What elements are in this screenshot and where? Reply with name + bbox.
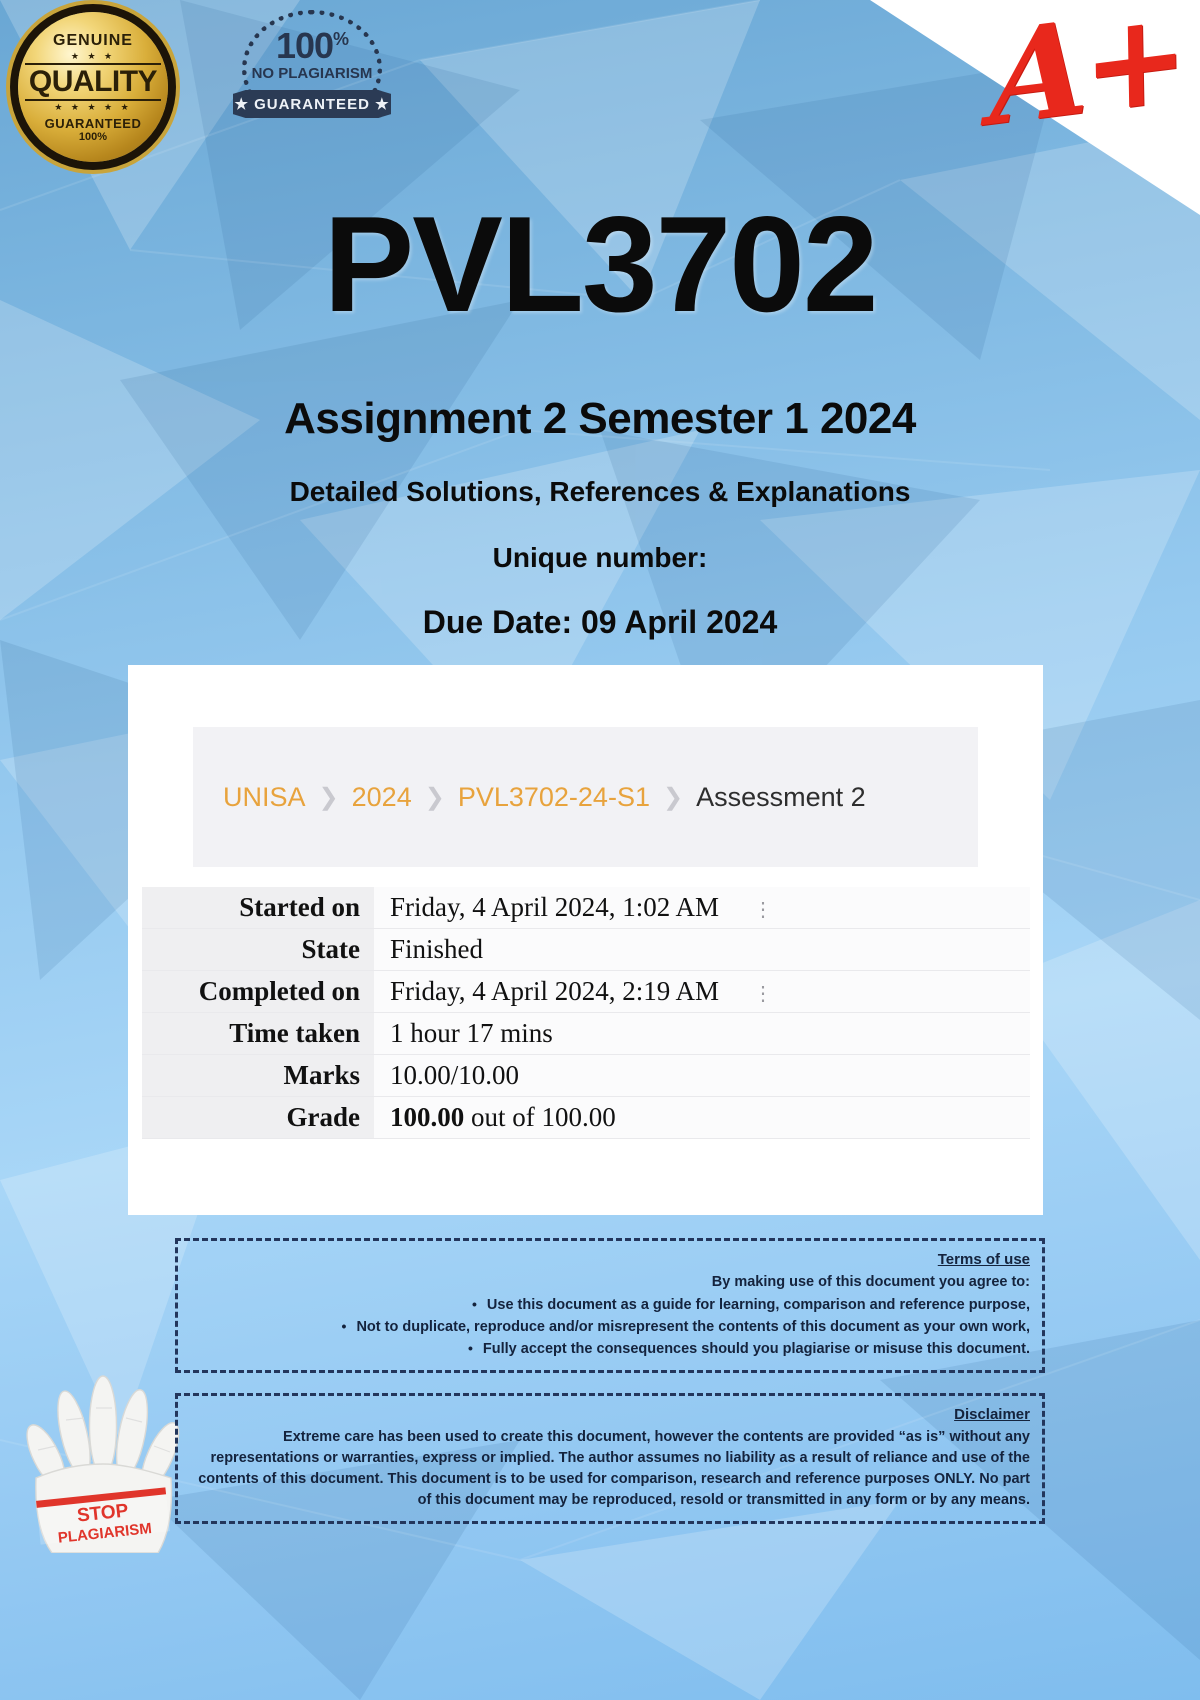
terms-bullet-2: Not to duplicate, reproduce and/or misre… [356,1319,1030,1335]
description-line: Detailed Solutions, References & Explana… [0,476,1200,508]
due-date-line: Due Date: 09 April 2024 [0,604,1200,641]
attempt-summary-table: Started on Friday, 4 April 2024, 1:02 AM… [142,887,1030,1139]
table-row: State Finished [142,929,1030,971]
list-item: •Use this document as a guide for learni… [190,1294,1030,1316]
breadcrumb-item-course[interactable]: PVL3702-24-S1 [458,782,650,813]
bullet-icon: • [472,1294,477,1314]
row-label-grade: Grade [142,1097,374,1139]
grade-score: 100.00 [390,1102,464,1132]
row-value-marks: 10.00/10.00 [374,1055,1030,1097]
breadcrumb-item-current: Assessment 2 [696,782,866,813]
row-label-time-taken: Time taken [142,1013,374,1055]
assignment-subtitle: Assignment 2 Semester 1 2024 [0,394,1200,444]
terms-bullet-3: Fully accept the consequences should you… [483,1341,1030,1357]
list-item: •Fully accept the consequences should yo… [190,1338,1030,1360]
breadcrumb-item-2024[interactable]: 2024 [352,782,412,813]
table-row: Grade 100.00 out of 100.00 [142,1097,1030,1139]
started-on-value: Friday, 4 April 2024, 1:02 AM [390,892,719,922]
row-value-time-taken: 1 hour 17 mins [374,1013,1030,1055]
row-label-completed-on: Completed on [142,971,374,1013]
row-label-state: State [142,929,374,971]
row-trailing-icon: ⋮ [753,983,773,1005]
breadcrumb: UNISA ❯ 2024 ❯ PVL3702-24-S1 ❯ Assessmen… [193,727,978,867]
row-value-started-on: Friday, 4 April 2024, 1:02 AM⋮ [374,887,1030,929]
terms-of-use-box: Terms of use By making use of this docum… [175,1238,1045,1373]
row-value-grade: 100.00 out of 100.00 [374,1097,1030,1139]
disclaimer-title: Disclaimer [190,1404,1030,1426]
breadcrumb-item-unisa[interactable]: UNISA [223,782,306,813]
screenshot-card: UNISA ❯ 2024 ❯ PVL3702-24-S1 ❯ Assessmen… [128,665,1043,1215]
cover-hero: PVL3702 Assignment 2 Semester 1 2024 Det… [0,0,1200,641]
row-label-marks: Marks [142,1055,374,1097]
terms-of-use-list: •Use this document as a guide for learni… [190,1294,1030,1360]
row-label-started-on: Started on [142,887,374,929]
breadcrumb-chevron-right-icon: ❯ [425,783,445,812]
breadcrumb-chevron-right-icon: ❯ [319,783,339,812]
grade-out-of: out of 100.00 [464,1102,616,1132]
bullet-icon: • [342,1316,347,1336]
row-value-completed-on: Friday, 4 April 2024, 2:19 AM⋮ [374,971,1030,1013]
breadcrumb-chevron-right-icon: ❯ [663,783,683,812]
completed-on-value: Friday, 4 April 2024, 2:19 AM [390,976,719,1006]
terms-bullet-1: Use this document as a guide for learnin… [487,1297,1030,1313]
bullet-icon: • [468,1338,473,1358]
terms-of-use-title: Terms of use [190,1249,1030,1271]
table-row: Completed on Friday, 4 April 2024, 2:19 … [142,971,1030,1013]
row-trailing-icon: ⋮ [753,899,773,921]
terms-of-use-lead: By making use of this document you agree… [190,1272,1030,1293]
disclaimer-box: Disclaimer Extreme care has been used to… [175,1393,1045,1524]
list-item: •Not to duplicate, reproduce and/or misr… [190,1316,1030,1338]
unique-number-line: Unique number: [0,542,1200,574]
disclaimer-body: Extreme care has been used to create thi… [190,1427,1030,1511]
table-row: Started on Friday, 4 April 2024, 1:02 AM… [142,887,1030,929]
stop-plagiarism-hand-icon: STOP PLAGIARISM [8,1338,198,1553]
table-row: Marks 10.00/10.00 [142,1055,1030,1097]
table-row: Time taken 1 hour 17 mins [142,1013,1030,1055]
course-code-title: PVL3702 [0,196,1200,332]
row-value-state: Finished [374,929,1030,971]
